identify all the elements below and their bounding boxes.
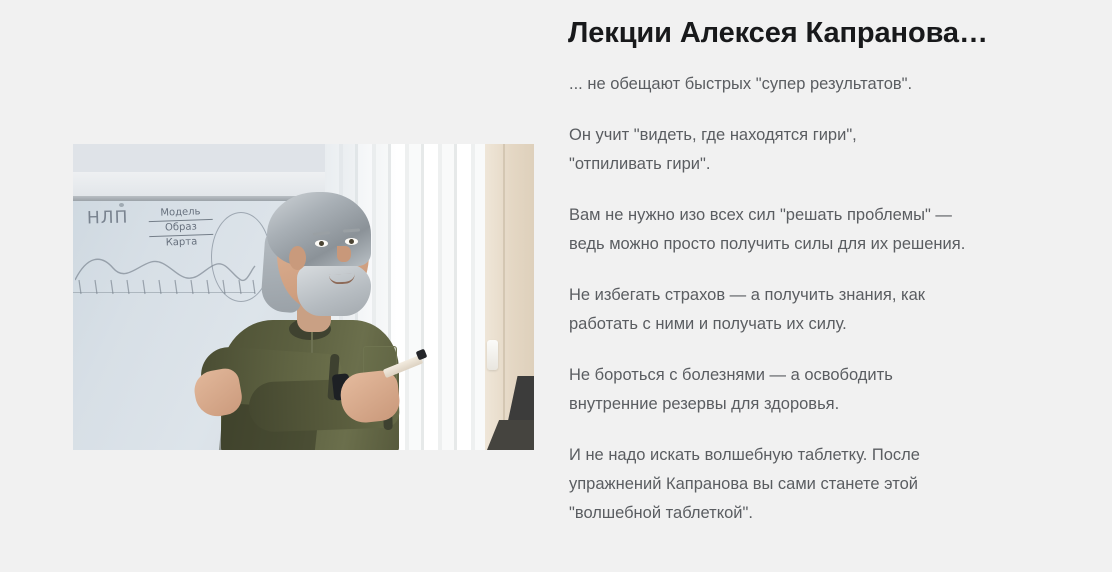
eye-left xyxy=(315,240,328,247)
nose xyxy=(337,246,351,262)
article-paragraph: ... не обещают быстрых "супер результато… xyxy=(569,70,1029,99)
article-paragraph: Он учит "видеть, где находятся гири", "о… xyxy=(569,121,1029,179)
article-paragraph: Вам не нужно изо всех сил "решать пробле… xyxy=(569,201,1029,259)
lecturer-figure xyxy=(193,174,443,450)
page-root: НЛП Модель Образ Карта xyxy=(0,0,1112,572)
whiteboard-marker-dot xyxy=(119,203,124,207)
article-paragraph: Не бороться с болезнями — а освободить в… xyxy=(569,361,1029,419)
article-paragraph: И не надо искать волшебную таблетку. Пос… xyxy=(569,441,1029,528)
lecture-photo: НЛП Модель Образ Карта xyxy=(73,144,534,450)
wall-seam xyxy=(503,144,505,450)
ear xyxy=(289,246,306,270)
eye-right xyxy=(345,238,358,245)
beard xyxy=(297,264,371,316)
marker-cap xyxy=(416,349,428,361)
page-title: Лекции Алексея Капранова… xyxy=(568,17,988,50)
photo-scene: НЛП Модель Образ Карта xyxy=(73,144,534,450)
article-body: ... не обещают быстрых "супер результато… xyxy=(569,70,1029,550)
article-paragraph: Не избегать страхов — а получить знания,… xyxy=(569,281,1029,339)
light-switch xyxy=(487,340,498,370)
whiteboard-heading-text: НЛП xyxy=(87,207,129,228)
